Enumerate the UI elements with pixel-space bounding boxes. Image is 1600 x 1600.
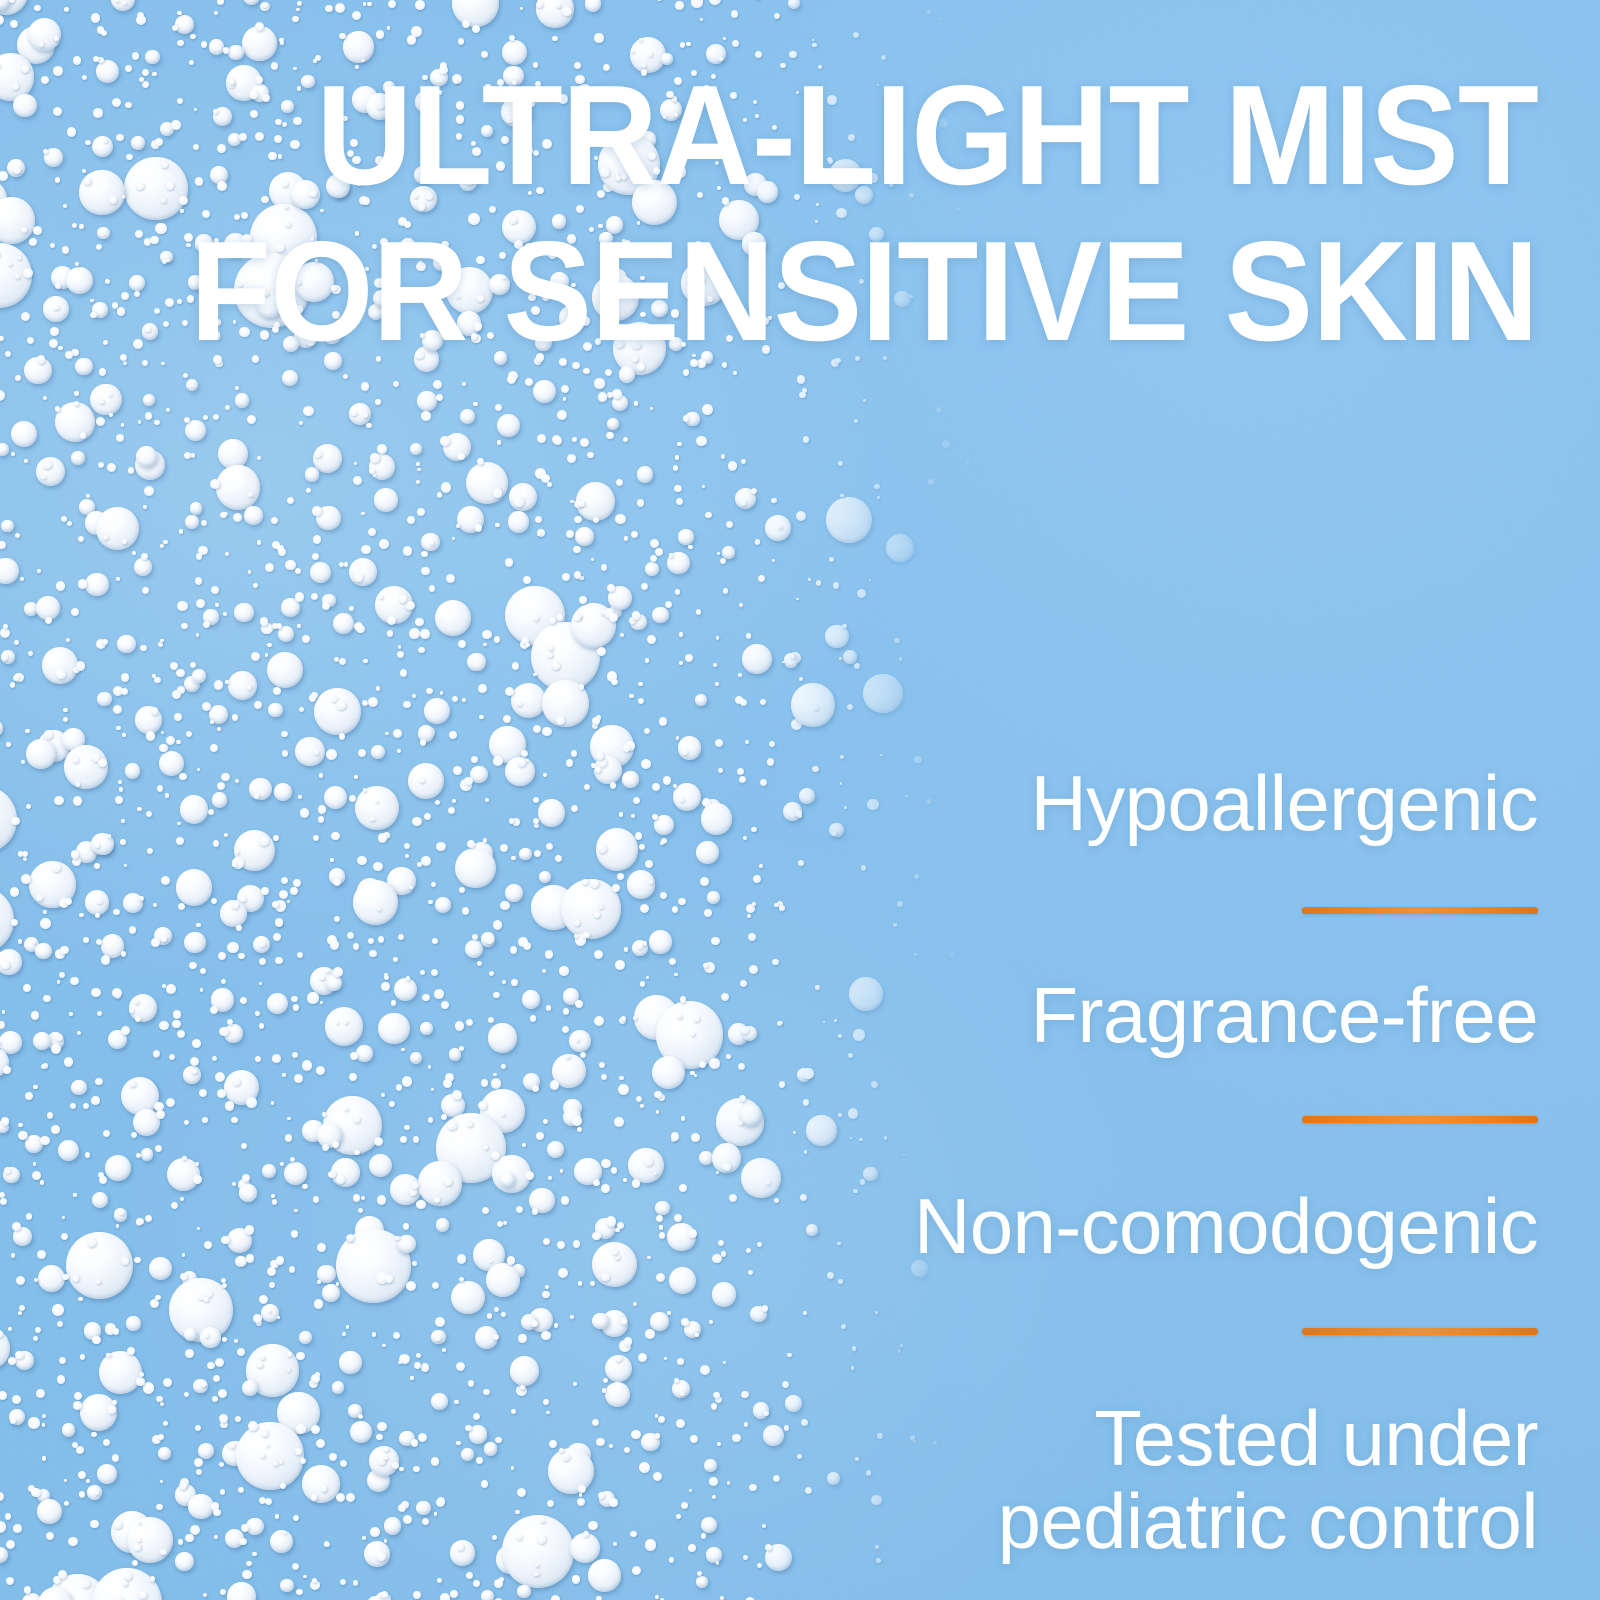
water-droplet xyxy=(220,1489,226,1495)
water-droplet xyxy=(90,299,93,302)
water-droplet xyxy=(479,715,483,719)
water-droplet xyxy=(163,1421,168,1426)
water-droplet xyxy=(149,1257,172,1280)
water-droplet xyxy=(42,1456,47,1461)
water-droplet xyxy=(185,1349,194,1358)
water-droplet xyxy=(156,1396,162,1402)
water-droplet xyxy=(361,382,369,390)
water-droplet xyxy=(545,1285,549,1289)
water-droplet xyxy=(281,877,288,884)
water-droplet xyxy=(699,1061,706,1068)
water-droplet xyxy=(632,611,640,619)
water-droplet xyxy=(676,498,683,505)
water-droplet xyxy=(758,575,765,582)
water-droplet xyxy=(434,1512,437,1515)
water-droplet xyxy=(97,1011,102,1016)
water-droplet xyxy=(720,558,726,564)
water-droplet xyxy=(731,10,739,18)
water-droplet xyxy=(176,669,185,678)
water-droplet xyxy=(26,739,56,769)
water-droplet xyxy=(307,992,319,1004)
water-droplet xyxy=(641,583,648,590)
water-droplet xyxy=(721,1251,726,1256)
water-droplet xyxy=(665,601,672,608)
water-droplet xyxy=(676,1419,685,1428)
water-droplet xyxy=(239,1184,257,1202)
water-droplet xyxy=(466,1019,473,1026)
water-droplet xyxy=(647,1256,651,1260)
water-droplet xyxy=(853,32,860,39)
water-droplet xyxy=(103,1439,110,1446)
water-droplet xyxy=(571,750,577,756)
water-droplet xyxy=(718,1240,724,1246)
water-droplet xyxy=(610,782,616,788)
water-droplet xyxy=(799,677,803,681)
water-droplet xyxy=(96,60,119,83)
water-droplet xyxy=(691,0,702,8)
water-droplet xyxy=(367,2,371,6)
water-droplet xyxy=(533,725,541,733)
water-droplet xyxy=(494,1579,503,1588)
water-droplet xyxy=(199,1089,207,1097)
water-droplet xyxy=(421,1363,429,1371)
water-droplet xyxy=(481,1480,488,1487)
water-droplet xyxy=(331,1158,360,1187)
water-droplet xyxy=(383,1446,389,1452)
water-droplet xyxy=(267,993,288,1014)
water-droplet xyxy=(326,975,342,991)
water-droplet xyxy=(413,1466,420,1473)
water-droplet xyxy=(393,729,402,738)
water-droplet xyxy=(939,18,941,20)
water-droplet xyxy=(311,1425,320,1434)
water-droplet xyxy=(503,1221,507,1225)
water-droplet xyxy=(63,717,68,722)
water-droplet xyxy=(406,976,411,981)
water-droplet xyxy=(437,1578,442,1583)
water-droplet xyxy=(370,453,379,462)
water-droplet xyxy=(396,1084,402,1090)
water-droplet xyxy=(236,925,241,930)
water-droplet xyxy=(607,418,619,430)
water-droplet xyxy=(268,1309,271,1312)
water-droplet xyxy=(177,11,182,16)
water-droplet xyxy=(40,918,52,930)
water-droplet xyxy=(347,932,354,939)
water-droplet xyxy=(554,1323,558,1327)
water-droplet xyxy=(0,628,10,638)
water-droplet xyxy=(675,1,684,10)
water-droplet xyxy=(412,817,421,826)
water-droplet xyxy=(563,397,567,401)
water-droplet xyxy=(196,553,202,559)
water-droplet xyxy=(43,149,48,154)
water-droplet xyxy=(78,1297,83,1302)
water-droplet xyxy=(624,1337,632,1345)
product-claim-poster: ULTRA-LIGHT MIST FOR SENSITIVE SKIN Hypo… xyxy=(0,0,1600,1600)
feature-divider-3 xyxy=(1302,1328,1538,1335)
water-droplet xyxy=(18,939,22,943)
water-droplet xyxy=(379,595,383,599)
water-droplet xyxy=(185,1534,194,1543)
water-droplet xyxy=(129,275,145,291)
water-droplet xyxy=(275,1514,280,1519)
water-droplet xyxy=(472,25,480,33)
water-droplet xyxy=(515,1510,519,1514)
water-droplet xyxy=(156,1504,162,1510)
water-droplet xyxy=(378,1013,410,1045)
water-droplet xyxy=(221,979,226,984)
water-droplet xyxy=(674,973,678,977)
water-droplet xyxy=(46,1532,54,1540)
water-droplet xyxy=(478,684,487,693)
water-droplet xyxy=(330,858,334,862)
water-droplet xyxy=(273,687,281,695)
water-droplet xyxy=(220,1589,226,1595)
water-droplet xyxy=(381,1591,388,1598)
water-droplet xyxy=(624,1447,631,1454)
water-droplet xyxy=(44,730,52,738)
water-droplet xyxy=(13,94,36,117)
water-droplet xyxy=(166,984,176,994)
water-droplet xyxy=(747,914,751,918)
water-droplet xyxy=(23,984,31,992)
water-droplet xyxy=(444,1178,452,1186)
water-droplet xyxy=(536,1,543,8)
water-droplet xyxy=(361,512,365,516)
water-droplet xyxy=(387,630,394,637)
water-droplet xyxy=(639,38,643,42)
water-droplet xyxy=(97,1464,118,1485)
water-droplet xyxy=(292,1052,299,1059)
water-droplet xyxy=(90,384,121,415)
water-droplet xyxy=(452,537,455,540)
water-droplet xyxy=(533,797,539,803)
water-droplet xyxy=(391,1000,396,1005)
water-droplet xyxy=(877,496,880,499)
water-droplet xyxy=(217,1089,226,1098)
water-droplet xyxy=(302,1465,340,1503)
water-droplet xyxy=(51,1044,61,1054)
water-droplet xyxy=(296,1352,305,1361)
water-droplet xyxy=(320,1001,323,1004)
water-droplet xyxy=(222,1337,227,1342)
water-droplet xyxy=(674,485,681,492)
water-droplet xyxy=(40,1180,45,1185)
water-droplet xyxy=(569,1030,591,1052)
water-droplet xyxy=(215,1358,224,1367)
water-droplet xyxy=(678,529,693,544)
water-droplet xyxy=(562,573,570,581)
water-droplet xyxy=(462,382,466,386)
water-droplet xyxy=(376,1552,385,1561)
water-droplet xyxy=(246,1518,263,1535)
water-droplet xyxy=(525,1171,534,1180)
water-droplet xyxy=(751,488,757,494)
water-droplet xyxy=(620,633,625,638)
water-droplet xyxy=(259,942,265,948)
water-droplet xyxy=(231,1117,237,1123)
water-droplet xyxy=(248,492,253,497)
water-droplet xyxy=(144,486,154,496)
water-droplet xyxy=(682,750,687,755)
water-droplet xyxy=(139,1372,144,1377)
water-droplet xyxy=(55,402,95,442)
water-droplet xyxy=(431,1088,434,1091)
water-droplet xyxy=(796,598,799,601)
water-droplet xyxy=(139,1591,147,1599)
water-droplet xyxy=(181,623,187,629)
water-droplet xyxy=(452,799,456,803)
water-droplet xyxy=(613,1542,617,1546)
water-droplet xyxy=(749,1484,756,1491)
water-droplet xyxy=(15,375,22,382)
water-droplet xyxy=(611,1167,617,1173)
water-droplet xyxy=(146,731,156,741)
water-droplet xyxy=(428,1117,434,1123)
water-droplet xyxy=(695,694,707,706)
water-droplet xyxy=(639,844,645,850)
water-droplet xyxy=(195,577,203,585)
water-droplet xyxy=(588,1559,621,1592)
water-droplet xyxy=(465,940,483,958)
water-droplet xyxy=(324,786,347,809)
water-droplet xyxy=(146,811,152,817)
water-droplet xyxy=(675,455,679,459)
water-droplet xyxy=(195,1162,199,1166)
water-droplet xyxy=(172,1020,181,1029)
water-droplet xyxy=(894,638,899,643)
water-droplet xyxy=(488,1023,518,1053)
water-droplet xyxy=(259,836,269,846)
water-droplet xyxy=(417,862,422,867)
water-droplet xyxy=(503,715,511,723)
water-droplet xyxy=(577,1127,582,1132)
water-droplet xyxy=(344,562,349,567)
water-droplet xyxy=(134,558,152,576)
water-droplet xyxy=(317,1243,326,1252)
spacer xyxy=(778,914,1538,974)
water-droplet xyxy=(599,1062,605,1068)
water-droplet xyxy=(325,968,329,972)
water-droplet xyxy=(421,567,430,576)
water-droplet xyxy=(624,947,629,952)
water-droplet xyxy=(603,1378,608,1383)
water-droplet xyxy=(358,1414,363,1419)
water-droplet xyxy=(151,707,159,715)
water-droplet xyxy=(378,936,385,943)
water-droplet xyxy=(403,546,413,556)
water-droplet xyxy=(631,814,635,818)
water-droplet xyxy=(696,436,707,447)
water-droplet xyxy=(11,817,20,826)
water-droplet xyxy=(473,402,477,406)
water-droplet xyxy=(225,405,230,410)
water-droplet xyxy=(739,603,743,607)
water-droplet xyxy=(752,902,756,906)
water-droplet xyxy=(525,378,533,386)
water-droplet xyxy=(200,968,206,974)
water-droplet xyxy=(51,1125,60,1134)
water-droplet xyxy=(227,1019,233,1025)
water-droplet xyxy=(147,848,153,854)
water-droplet xyxy=(2,1010,6,1014)
water-droplet xyxy=(210,1006,218,1014)
water-droplet xyxy=(672,906,678,912)
water-droplet xyxy=(33,1162,37,1166)
water-droplet xyxy=(33,940,36,943)
water-droplet xyxy=(376,686,381,691)
water-droplet xyxy=(369,468,374,473)
water-droplet xyxy=(394,978,417,1001)
water-droplet xyxy=(202,1117,207,1122)
water-droplet xyxy=(346,1325,349,1328)
water-droplet xyxy=(222,1283,227,1288)
water-droplet xyxy=(632,1566,641,1575)
water-droplet xyxy=(633,797,640,804)
water-droplet xyxy=(634,401,638,405)
water-droplet xyxy=(461,1448,474,1461)
water-droplet xyxy=(50,327,59,336)
water-droplet xyxy=(43,910,46,913)
water-droplet xyxy=(285,560,295,570)
water-droplet xyxy=(597,647,607,657)
water-droplet xyxy=(137,1538,140,1541)
water-droplet xyxy=(459,887,465,893)
water-droplet xyxy=(273,933,281,941)
water-droplet xyxy=(99,1176,107,1184)
water-droplet xyxy=(290,887,298,895)
water-droplet xyxy=(497,1221,503,1227)
water-droplet xyxy=(398,1504,406,1512)
water-droplet xyxy=(53,107,62,116)
water-droplet xyxy=(421,411,431,421)
water-droplet xyxy=(299,421,303,425)
water-droplet xyxy=(723,37,726,40)
water-droplet xyxy=(374,1137,383,1146)
water-droplet xyxy=(664,1357,667,1360)
water-droplet xyxy=(689,1489,692,1492)
water-droplet xyxy=(726,521,733,528)
water-droplet xyxy=(212,792,227,807)
water-droplet xyxy=(37,1499,62,1524)
water-droplet xyxy=(291,1230,299,1238)
water-droplet xyxy=(201,41,207,47)
water-droplet xyxy=(760,699,766,705)
water-droplet xyxy=(72,223,77,228)
water-droplet xyxy=(356,1045,373,1062)
water-droplet xyxy=(485,798,489,802)
water-droplet xyxy=(405,854,409,858)
water-droplet xyxy=(428,1065,432,1069)
water-droplet xyxy=(475,524,482,531)
water-droplet xyxy=(185,515,199,529)
water-droplet xyxy=(623,437,628,442)
water-droplet xyxy=(398,1361,402,1365)
water-droplet xyxy=(3,1066,11,1074)
water-droplet xyxy=(726,1054,731,1059)
water-droplet xyxy=(105,279,110,284)
water-droplet xyxy=(292,16,299,23)
water-droplet xyxy=(446,574,455,583)
water-droplet xyxy=(96,417,105,426)
water-droplet xyxy=(221,773,230,782)
water-droplet xyxy=(36,1389,45,1398)
water-droplet xyxy=(217,782,225,790)
water-droplet xyxy=(574,516,582,524)
water-droplet xyxy=(292,1563,299,1570)
water-droplet xyxy=(74,391,79,396)
water-droplet xyxy=(269,1282,275,1288)
water-droplet xyxy=(109,196,117,204)
water-droplet xyxy=(131,1132,137,1138)
water-droplet xyxy=(287,900,290,903)
water-droplet xyxy=(49,339,59,349)
water-droplet xyxy=(339,658,346,665)
water-droplet xyxy=(829,557,834,562)
water-droplet xyxy=(488,1017,494,1023)
water-droplet xyxy=(667,1311,670,1314)
water-droplet xyxy=(826,497,872,543)
water-droplet xyxy=(561,1196,569,1204)
water-droplet xyxy=(71,1080,87,1096)
water-droplet xyxy=(21,312,31,322)
water-droplet xyxy=(639,1462,650,1473)
water-droplet xyxy=(655,1201,669,1215)
water-droplet xyxy=(333,878,341,886)
water-droplet xyxy=(443,1079,452,1088)
water-droplet xyxy=(295,568,301,574)
water-droplet xyxy=(76,661,86,671)
water-droplet xyxy=(90,312,97,319)
water-droplet xyxy=(297,952,303,958)
water-droplet xyxy=(384,975,389,980)
water-droplet xyxy=(218,439,248,469)
water-droplet xyxy=(36,895,42,901)
water-droplet xyxy=(649,880,653,884)
water-droplet xyxy=(346,1493,355,1502)
water-droplet xyxy=(103,340,108,345)
water-droplet xyxy=(489,971,494,976)
water-droplet xyxy=(6,1540,15,1549)
water-droplet xyxy=(505,884,523,902)
water-droplet xyxy=(214,1535,218,1539)
spacer xyxy=(778,1056,1538,1116)
water-droplet xyxy=(309,694,317,702)
water-droplet xyxy=(0,1192,5,1198)
water-droplet xyxy=(548,1448,594,1494)
water-droplet xyxy=(214,11,218,15)
water-droplet xyxy=(546,1411,550,1415)
water-droplet xyxy=(435,897,451,913)
water-droplet xyxy=(319,975,324,980)
water-droplet xyxy=(382,1344,386,1348)
water-droplet xyxy=(573,1240,581,1248)
water-droplet xyxy=(213,414,219,420)
water-droplet xyxy=(240,997,247,1004)
water-droplet xyxy=(966,461,971,466)
water-droplet xyxy=(78,536,84,542)
water-droplet xyxy=(285,1134,293,1142)
water-droplet xyxy=(720,1596,724,1600)
water-droplet xyxy=(494,636,501,643)
water-droplet xyxy=(398,645,402,649)
water-droplet xyxy=(482,1207,490,1215)
water-droplet xyxy=(238,953,245,960)
water-droplet xyxy=(220,512,227,519)
water-droplet xyxy=(814,707,817,710)
water-droplet xyxy=(42,1414,46,1418)
